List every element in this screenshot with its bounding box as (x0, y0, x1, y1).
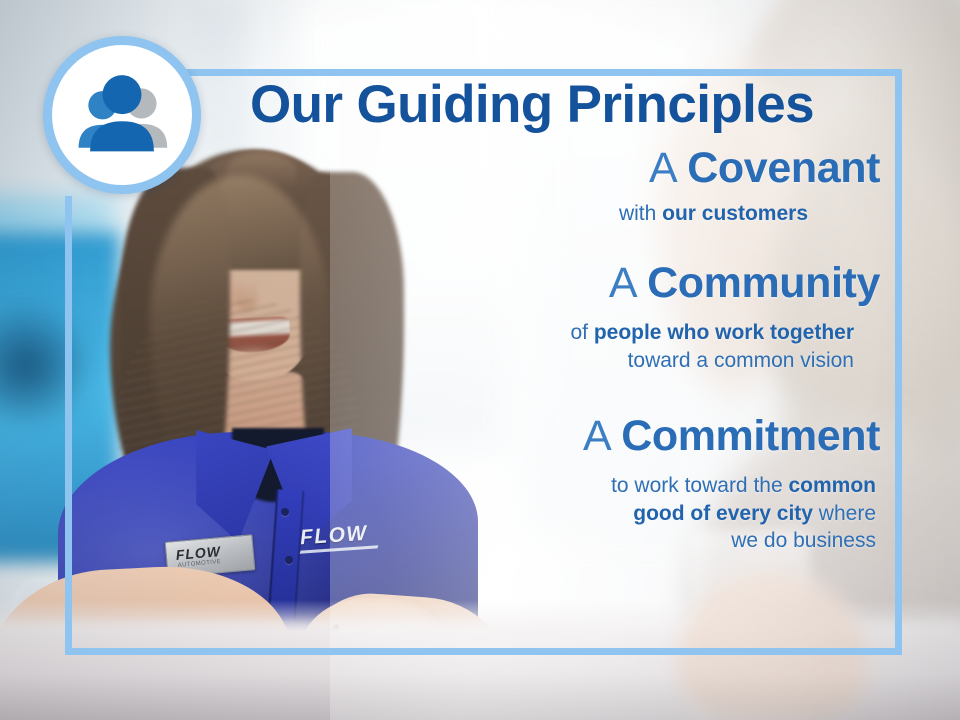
subtext-segment: to work toward the (611, 474, 788, 497)
principle-commitment-subtext: to work toward the common good of every … (190, 472, 880, 555)
principle-covenant-keyword: Covenant (687, 144, 880, 192)
subtext-segment: with (619, 202, 662, 225)
principle-commitment-lead: A (583, 412, 621, 460)
people-group-badge (43, 36, 201, 194)
subtext-line: with our customers (190, 200, 808, 228)
principle-covenant-lead: A (649, 144, 687, 192)
principle-covenant: A Covenant with our customers (190, 146, 880, 227)
subtext-segment: of (570, 321, 593, 344)
subtext-line: we do business (190, 527, 876, 555)
principle-community-heading: A Community (190, 261, 880, 307)
subtext-segment-bold: common (788, 474, 876, 497)
principle-commitment-keyword: Commitment (621, 412, 880, 460)
page-title: Our Guiding Principles (190, 78, 880, 132)
subtext-segment: where (813, 502, 876, 525)
principle-covenant-subtext: with our customers (190, 200, 880, 228)
people-group-icon (52, 45, 192, 185)
principle-commitment: A Commitment to work toward the common g… (190, 414, 880, 555)
lower-shadow (0, 674, 960, 720)
polo-button-bottom (285, 556, 293, 564)
subtext-line: toward a common vision (190, 347, 854, 375)
subtext-line: to work toward the common (190, 472, 876, 500)
principle-community-keyword: Community (647, 259, 880, 307)
subtext-line: of people who work together (190, 319, 854, 347)
subtext-segment-bold: people who work together (594, 321, 854, 344)
principle-community: A Community of people who work together … (190, 261, 880, 374)
subtext-segment-bold: good of every city (633, 502, 813, 525)
principle-community-subtext: of people who work together toward a com… (190, 319, 880, 374)
principle-covenant-heading: A Covenant (190, 146, 880, 192)
subtext-segment-bold: our customers (662, 202, 808, 225)
subtext-line: good of every city where (190, 500, 876, 528)
principles-text-column: Our Guiding Principles A Covenant with o… (190, 78, 880, 555)
principle-community-lead: A (609, 259, 647, 307)
principle-commitment-heading: A Commitment (190, 414, 880, 460)
guiding-principles-poster: FLOW AUTOMOTIVE FLOW (0, 0, 960, 720)
